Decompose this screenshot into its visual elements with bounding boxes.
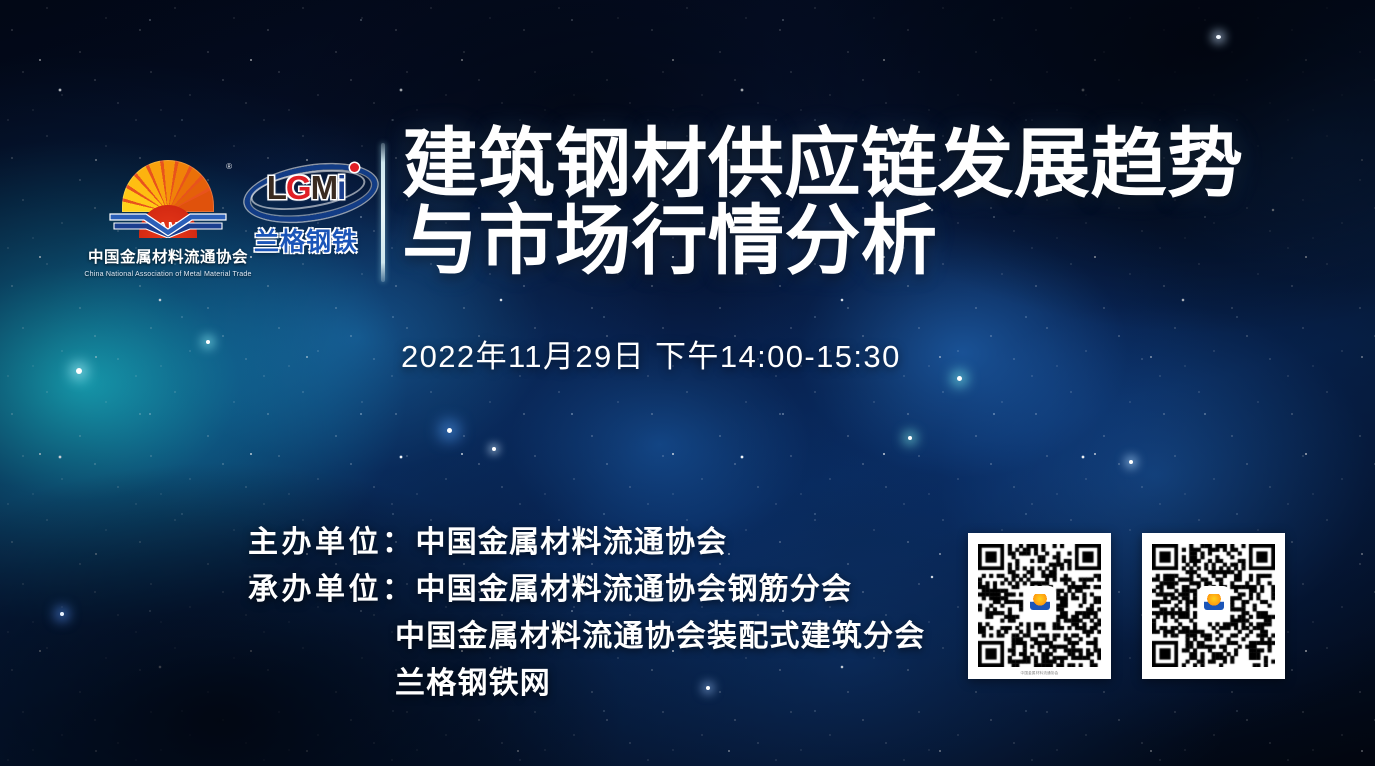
organizer-label: 承办单位：	[248, 573, 416, 606]
lgmi-letter-i: i	[337, 169, 345, 206]
lgmi-letter-m: M	[311, 169, 338, 206]
page-title: 建筑钢材供应链发展趋势 与市场行情分析	[402, 126, 1272, 280]
lgmi-letter-g: G	[286, 169, 311, 206]
logo-camt: CAMT ® 中国金属材料流通协会 China National Associa…	[78, 160, 258, 278]
lgmi-acronym: LGMi	[242, 166, 370, 210]
qr-center-logo-icon	[1199, 587, 1229, 617]
poster-header: CAMT ® 中国金属材料流通协会 China National Associa…	[0, 0, 1375, 300]
page-title-line2: 与市场行情分析	[402, 203, 1272, 280]
title-divider	[381, 143, 385, 282]
lgmi-chinese-name: 兰格钢铁	[240, 222, 372, 258]
qr-code-right[interactable]	[1142, 533, 1285, 679]
qr-code-left[interactable]: 中国金属材料流通协会	[968, 533, 1111, 679]
logo-lgmi: LGMi 兰格钢铁	[240, 160, 372, 258]
camt-english-name: China National Association of Metal Mate…	[81, 269, 256, 278]
organizer-row: 承办单位：中国金属材料流通协会钢筋分会	[248, 566, 925, 613]
qr-center-logo-icon	[1025, 587, 1055, 617]
organizer-value: 中国金属材料流通协会钢筋分会	[416, 573, 853, 606]
event-poster: CAMT ® 中国金属材料流通协会 China National Associa…	[0, 0, 1375, 766]
camt-chinese-name: 中国金属材料流通协会	[78, 245, 258, 267]
organizer-row: 主办单位：中国金属材料流通协会	[248, 519, 925, 566]
event-datetime: 2022年11月29日 下午14:00-15:30	[401, 331, 901, 376]
qr-code-left-caption: 中国金属材料流通协会	[968, 671, 1111, 676]
wings-icon	[108, 208, 228, 238]
organizer-value: 中国金属材料流通协会装配式建筑分会	[395, 620, 925, 653]
organizer-list: 主办单位：中国金属材料流通协会 承办单位：中国金属材料流通协会钢筋分会 中国金属…	[248, 519, 925, 707]
lgmi-letter-l: L	[267, 169, 286, 206]
registered-mark-icon: ®	[226, 162, 232, 171]
organizer-value: 兰格钢铁网	[395, 667, 551, 700]
organizer-row: 兰格钢铁网	[248, 660, 925, 707]
lgmi-dot-icon	[350, 163, 359, 172]
camt-emblem-icon: CAMT ®	[108, 160, 228, 238]
page-title-line1: 建筑钢材供应链发展趋势	[402, 126, 1272, 203]
organizer-row: 中国金属材料流通协会装配式建筑分会	[248, 613, 925, 660]
organizer-value: 中国金属材料流通协会	[416, 526, 728, 559]
lgmi-emblem-icon: LGMi	[242, 160, 370, 218]
organizer-label: 主办单位：	[248, 526, 416, 559]
